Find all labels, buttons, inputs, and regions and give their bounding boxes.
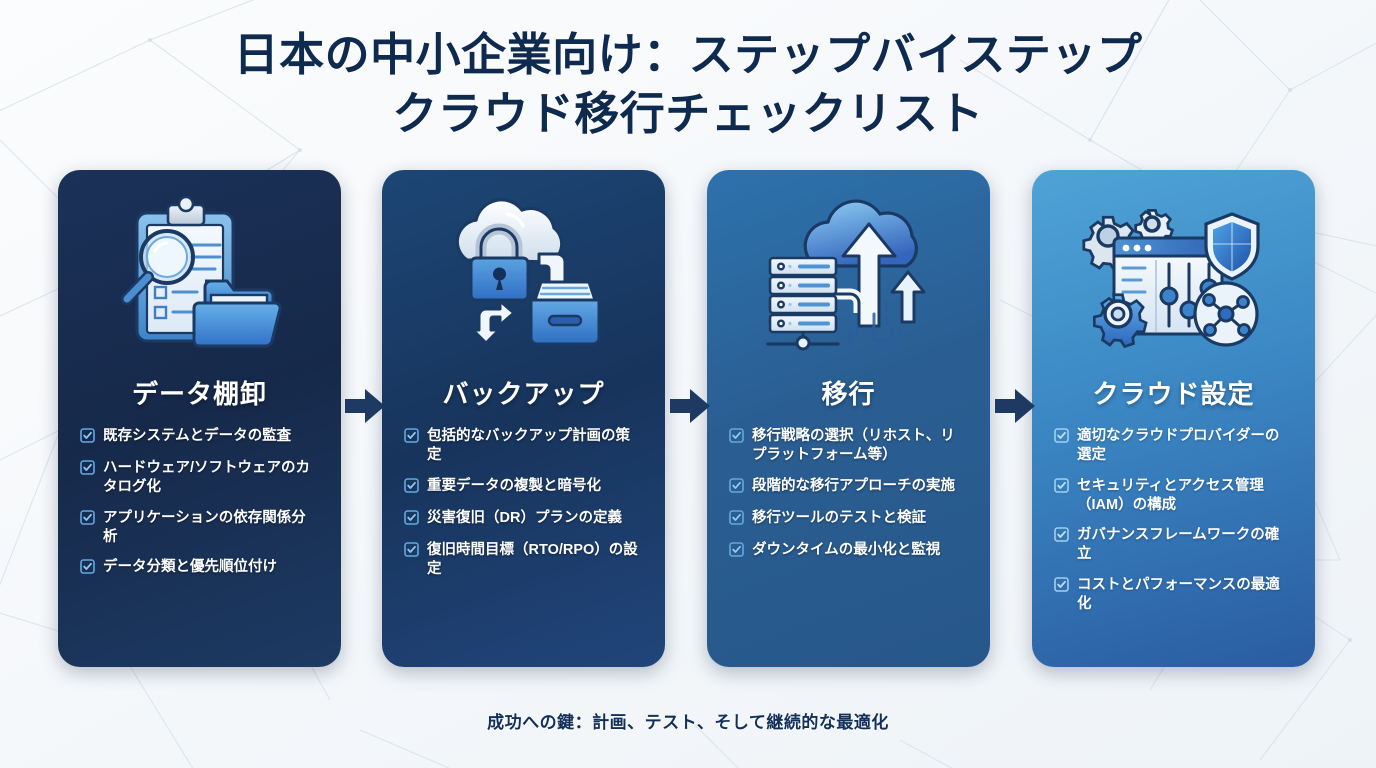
step-card-1[interactable]: データ棚卸 既存システムとデータの監査 ハードウェア/ソフトウェアのカタログ化	[58, 170, 341, 667]
step-4-checklist: 適切なクラウドプロバイダーの選定 セキュリティとアクセス管理（IAM）の構成 ガ…	[1048, 427, 1299, 614]
checklist-label: 復旧時間目標（RTO/RPO）の設定	[427, 541, 643, 580]
checklist-item[interactable]: 災害復旧（DR）プランの定義	[404, 509, 643, 530]
step-1-icon-zone	[74, 170, 325, 370]
checkbox-icon[interactable]	[729, 478, 744, 498]
checkbox-icon[interactable]	[729, 510, 744, 530]
step-2-icon-zone	[398, 170, 649, 370]
step-1-title: データ棚卸	[74, 374, 325, 411]
checklist-label: ガバナンスフレームワークの確立	[1077, 526, 1293, 565]
title-line-1: 日本の中小企業向け：ステップバイステップ	[0, 26, 1376, 85]
checkbox-icon[interactable]	[404, 478, 419, 498]
checkbox-icon[interactable]	[1054, 527, 1069, 547]
checklist-item[interactable]: 重要データの複製と暗号化	[404, 477, 643, 498]
checklist-label: 包括的なバックアップ計画の策定	[427, 427, 643, 466]
checklist-label: データ分類と優先順位付け	[103, 558, 277, 577]
checklist-item[interactable]: ガバナンスフレームワークの確立	[1054, 526, 1293, 565]
server-to-cloud-upload-icon	[754, 198, 944, 353]
checklist-label: セキュリティとアクセス管理（IAM）の構成	[1077, 477, 1293, 516]
checklist-item[interactable]: コストとパフォーマンスの最適化	[1054, 576, 1293, 615]
checkbox-icon[interactable]	[729, 428, 744, 448]
checklist-item[interactable]: セキュリティとアクセス管理（IAM）の構成	[1054, 477, 1293, 516]
checklist-item[interactable]: データ分類と優先順位付け	[80, 558, 319, 579]
footer-tagline: 成功への鍵：計画、テスト、そして継続的な最適化	[0, 708, 1376, 733]
page-title: 日本の中小企業向け：ステップバイステップ クラウド移行チェックリスト	[0, 26, 1376, 143]
checklist-label: アプリケーションの依存関係分析	[103, 509, 319, 548]
checkbox-icon[interactable]	[729, 542, 744, 562]
checklist-item[interactable]: アプリケーションの依存関係分析	[80, 509, 319, 548]
checklist-label: 重要データの複製と暗号化	[427, 477, 601, 496]
checklist-item[interactable]: 適切なクラウドプロバイダーの選定	[1054, 427, 1293, 466]
checkbox-icon[interactable]	[404, 428, 419, 448]
checklist-label: 段階的な移行アプローチの実施	[752, 477, 955, 496]
checklist-label: 移行戦略の選択（リホスト、リプラットフォーム等）	[752, 427, 968, 466]
checkbox-icon[interactable]	[80, 559, 95, 579]
checklist-label: 災害復旧（DR）プランの定義	[427, 509, 622, 528]
checkbox-icon[interactable]	[1054, 577, 1069, 597]
step-card-3[interactable]: 移行 移行戦略の選択（リホスト、リプラットフォーム等） 段階的な移行アプローチの…	[707, 170, 990, 667]
checkbox-icon[interactable]	[80, 428, 95, 448]
checklist-item[interactable]: 移行ツールのテストと検証	[729, 509, 968, 530]
arrow-step1-to-step2	[345, 389, 387, 428]
settings-panel-gears-shield-icon	[1076, 196, 1271, 354]
title-line-2: クラウド移行チェックリスト	[0, 85, 1376, 144]
checklist-label: 適切なクラウドプロバイダーの選定	[1077, 427, 1293, 466]
checklist-item[interactable]: 既存システムとデータの監査	[80, 427, 319, 448]
step-3-icon-zone	[723, 170, 974, 370]
checkbox-icon[interactable]	[404, 542, 419, 562]
step-card-4[interactable]: クラウド設定 適切なクラウドプロバイダーの選定 セキュリティとアクセス管理（IA…	[1032, 170, 1315, 667]
step-4-title: クラウド設定	[1048, 374, 1299, 411]
checklist-label: ダウンタイムの最小化と監視	[752, 541, 940, 560]
step-2-title: バックアップ	[398, 374, 649, 411]
checkbox-icon[interactable]	[1054, 478, 1069, 498]
checkbox-icon[interactable]	[80, 510, 95, 530]
checklist-label: 既存システムとデータの監査	[103, 427, 291, 446]
step-4-icon-zone	[1048, 170, 1299, 370]
checklist-label: ハードウェア/ソフトウェアのカタログ化	[103, 459, 319, 498]
checklist-item[interactable]: 移行戦略の選択（リホスト、リプラットフォーム等）	[729, 427, 968, 466]
checklist-item[interactable]: 段階的な移行アプローチの実施	[729, 477, 968, 498]
step-3-title: 移行	[723, 374, 974, 411]
step-card-2[interactable]: バックアップ 包括的なバックアップ計画の策定 重要データの複製と暗号化	[382, 170, 665, 667]
checkbox-icon[interactable]	[80, 460, 95, 480]
checklist-item[interactable]: ダウンタイムの最小化と監視	[729, 541, 968, 562]
cloud-lock-archive-icon	[431, 198, 616, 353]
step-3-checklist: 移行戦略の選択（リホスト、リプラットフォーム等） 段階的な移行アプローチの実施 …	[723, 427, 974, 562]
step-2-checklist: 包括的なバックアップ計画の策定 重要データの複製と暗号化 災害復旧（DR）プラン…	[398, 427, 649, 579]
checklist-item[interactable]: ハードウェア/ソフトウェアのカタログ化	[80, 459, 319, 498]
checklist-item[interactable]: 包括的なバックアップ計画の策定	[404, 427, 643, 466]
checklist-label: 移行ツールのテストと検証	[752, 509, 926, 528]
checkbox-icon[interactable]	[1054, 428, 1069, 448]
infographic-stage: 日本の中小企業向け：ステップバイステップ クラウド移行チェックリスト	[0, 0, 1376, 768]
checklist-label: コストとパフォーマンスの最適化	[1077, 576, 1293, 615]
clipboard-magnifier-folder-icon	[105, 195, 295, 355]
arrow-step2-to-step3	[670, 389, 712, 428]
checklist-item[interactable]: 復旧時間目標（RTO/RPO）の設定	[404, 541, 643, 580]
arrow-step3-to-step4	[995, 389, 1037, 428]
checkbox-icon[interactable]	[404, 510, 419, 530]
step-1-checklist: 既存システムとデータの監査 ハードウェア/ソフトウェアのカタログ化 アプリケーシ…	[74, 427, 325, 579]
